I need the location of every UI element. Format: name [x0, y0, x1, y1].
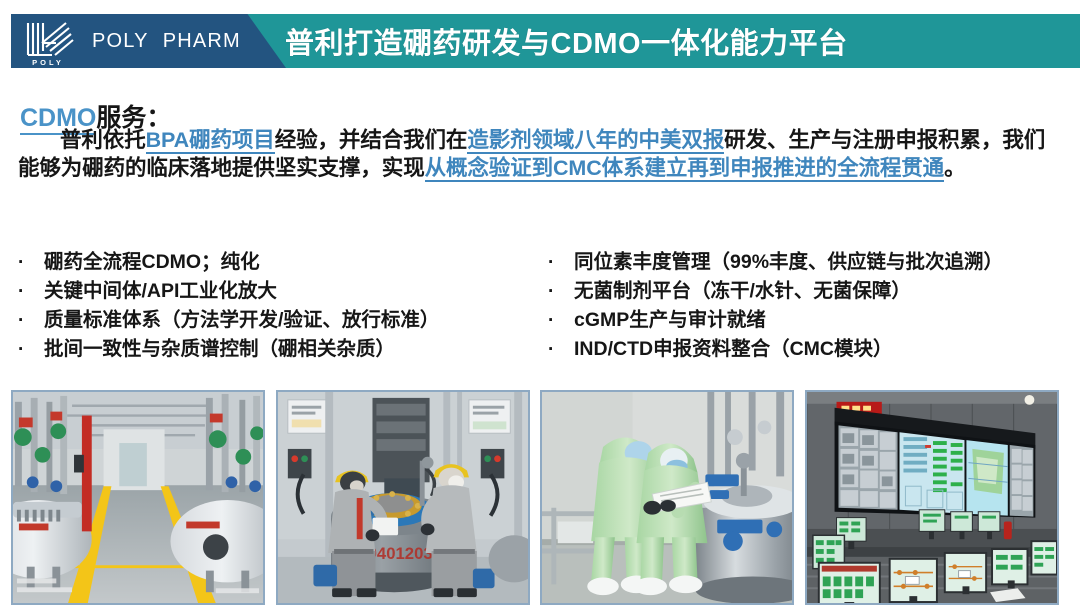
bullet-marker-icon: ·	[548, 306, 574, 335]
list-item: · 硼药全流程CDMO；纯化	[18, 248, 538, 277]
paragraph-highlight-1: BPA硼药项目	[146, 128, 275, 154]
photo-production-corridor: 化工生产车间走廊与反应釜	[11, 390, 265, 605]
photo-reactor-operators-image: R0401203	[278, 392, 528, 603]
list-item-label: cGMP生产与审计就绪	[574, 306, 1073, 335]
bullet-marker-icon: ·	[548, 335, 574, 364]
list-item: · 同位素丰度管理（99%丰度、供应链与批次追溯）	[548, 248, 1073, 277]
paragraph-part-4: 。	[944, 156, 965, 180]
slide-header: POLY POLY PHARM 普利打造硼药研发与CDMO一体化能力平台	[0, 14, 1080, 68]
list-item-label: IND/CTD申报资料整合（CMC模块）	[574, 335, 1073, 364]
bullet-marker-icon: ·	[18, 335, 44, 364]
list-item: · cGMP生产与审计就绪	[548, 306, 1073, 335]
list-item: · 质量标准体系（方法学开发/验证、放行标准）	[18, 306, 538, 335]
poly-logo-icon	[22, 21, 74, 61]
capability-list-right: · 同位素丰度管理（99%丰度、供应链与批次追溯） · 无菌制剂平台（冻干/水针…	[548, 248, 1073, 364]
bullet-marker-icon: ·	[18, 277, 44, 306]
list-item-label: 批间一致性与杂质谱控制（硼相关杂质）	[44, 335, 538, 364]
paragraph-highlight-3: 从概念验证到CMC体系建立再到申报推进的全流程贯通	[425, 156, 944, 182]
brand-secondary: PHARM	[163, 30, 241, 53]
photo-production-corridor-image	[13, 392, 263, 603]
paragraph-part-1: 普利依托	[60, 128, 146, 152]
list-item-label: 关键中间体/API工业化放大	[44, 277, 538, 306]
brand-primary: POLY	[92, 30, 149, 53]
bullet-marker-icon: ·	[548, 277, 574, 306]
photo-reactor-operators: R0401203	[276, 390, 530, 605]
list-item-label: 同位素丰度管理（99%丰度、供应链与批次追溯）	[574, 248, 1073, 277]
bullet-marker-icon: ·	[18, 248, 44, 277]
photo-control-room: 中控室大屏与操作台监视器	[805, 390, 1059, 605]
list-item: · 无菌制剂平台（冻干/水针、无菌保障）	[548, 277, 1073, 306]
photo-gallery: 化工生产车间走廊与反应釜	[11, 390, 1069, 605]
list-item-label: 无菌制剂平台（冻干/水针、无菌保障）	[574, 277, 1073, 306]
poly-logo-wordmark: POLY	[22, 58, 74, 67]
cdmo-description-paragraph: 普利依托BPA硼药项目经验，并结合我们在造影剂领域八年的中美双报研发、生产与注册…	[18, 126, 1066, 182]
bullet-marker-icon: ·	[18, 306, 44, 335]
page-title: 普利打造硼药研发与CDMO一体化能力平台	[285, 14, 848, 68]
photo-cleanroom-inspection-image	[542, 392, 792, 603]
capability-list-left: · 硼药全流程CDMO；纯化 · 关键中间体/API工业化放大 · 质量标准体系…	[18, 248, 538, 364]
bullet-marker-icon: ·	[548, 248, 574, 277]
slide-root: POLY POLY PHARM 普利打造硼药研发与CDMO一体化能力平台 CDM…	[0, 0, 1080, 612]
photo-cleanroom-inspection: 两名穿绿色洁净服的人员在无菌罐旁核对文件	[540, 390, 794, 605]
list-item: · 关键中间体/API工业化放大	[18, 277, 538, 306]
list-item-label: 硼药全流程CDMO；纯化	[44, 248, 538, 277]
list-item-label: 质量标准体系（方法学开发/验证、放行标准）	[44, 306, 538, 335]
list-item: · 批间一致性与杂质谱控制（硼相关杂质）	[18, 335, 538, 364]
brand-name: POLY PHARM	[92, 14, 241, 68]
paragraph-part-2: 经验，并结合我们在	[275, 128, 468, 152]
poly-logo: POLY	[22, 21, 74, 65]
paragraph-highlight-2: 造影剂领域八年的中美双报	[467, 128, 724, 154]
list-item: · IND/CTD申报资料整合（CMC模块）	[548, 335, 1073, 364]
photo-control-room-image	[807, 392, 1057, 603]
